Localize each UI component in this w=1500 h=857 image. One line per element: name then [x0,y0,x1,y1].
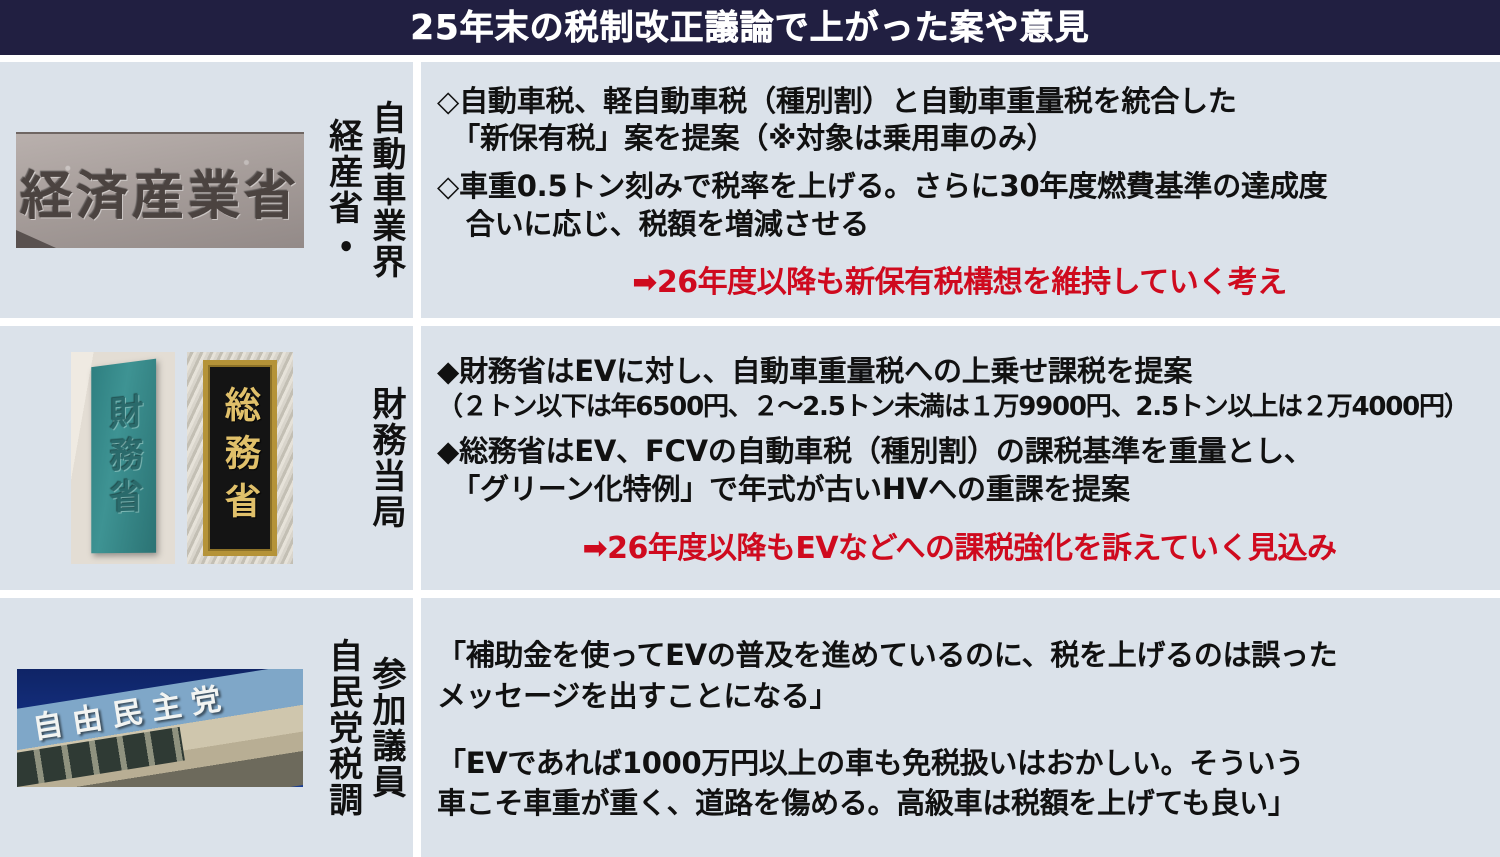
mic-frame: 総務省 [203,360,277,556]
row-label-cell-3: 自民党税調 参加議員 自由民主党 [0,598,413,857]
row-photo-area-3: 自由民主党 [0,598,320,857]
row-label-group-2: 財務当局 [364,326,413,590]
mof-plate: 財務省 [91,359,156,554]
mof-bronze-plaque-photo: 財務省 [71,352,175,564]
bullet-text-1-2: ◇車重0.5トン刻みで税率を上げる。さらに30年度燃費基準の達成度 合いに応じ、… [437,168,1482,243]
stone-corner-shadow [16,230,56,248]
quote-text-3-2: 「EVであれば1000万円以上の車も免税扱いはおかしい。そういう 車こそ車重が重… [437,743,1482,824]
bullet-item: ◇車重0.5トン刻みで税率を上げる。さらに30年度燃費基準の達成度 合いに応じ、… [437,168,1482,243]
quote-item: 「EVであれば1000万円以上の車も免税扱いはおかしい。そういう 車こそ車重が重… [437,743,1482,824]
row-photo-area-1: 経済産業省 [0,62,320,318]
row-content-cell-2: ◆財務省はEVに対し、自動車重量税への上乗せ課税を提案 （２トン以下は年6500… [421,326,1500,590]
mic-plaque-caption: 総務省 [222,386,258,530]
infographic-root: 25年末の税制改正議論で上がった案や意見 経産省・ 自動車業界 経済産業省 ◇自… [0,0,1500,857]
header-bar: 25年末の税制改正議論で上がった案や意見 [0,0,1500,55]
bullet-item: ◆財務省はEVに対し、自動車重量税への上乗せ課税を提案 （２トン以下は年6500… [437,353,1482,423]
ldp-headquarters-photo: 自由民主党 [17,669,303,787]
row-photo-area-2: 財務省 総務省 [0,326,364,590]
conclusion-text-1: ➡26年度以降も新保有税構想を維持していく考え [437,265,1482,301]
meti-sign-caption: 経済産業省 [20,154,300,229]
row-label-right-2: 財務当局 [368,386,403,530]
row-label-cell-1: 経産省・ 自動車業界 経済産業省 [0,62,413,318]
mof-plaque-caption: 財務省 [106,393,139,521]
page-title: 25年末の税制改正議論で上がった案や意見 [410,11,1089,45]
row-label-left-3: 参加議員 [368,656,403,800]
meti-stone-sign-photo: 経済産業省 [16,132,304,248]
row-content-cell-3: 「補助金を使ってEVの普及を進めているのに、税を上げるのは誤った メッセージを出… [421,598,1500,857]
bullet-item: ◆総務省はEV、FCVの自動車税（種別割）の課税基準を重量とし、 「グリーン化特… [437,433,1482,508]
mic-gold-plaque-photo: 総務省 [187,352,293,564]
row-label-cell-2: 財務当局 財務省 総務省 [0,326,413,590]
table-row-ldp-tax-council: 自民党税調 参加議員 自由民主党 「補助金を使ってEVの普及を進めているのに、税… [0,598,1500,857]
table-row-meti-industry: 経産省・ 自動車業界 経済産業省 ◇自動車税、軽自動車税（種別割）と自動車重量税… [0,62,1500,318]
bullet-item: ◇自動車税、軽自動車税（種別割）と自動車重量税を統合した 「新保有税」案を提案（… [437,83,1482,158]
quote-text-3-1: 「補助金を使ってEVの普及を進めているのに、税を上げるのは誤った メッセージを出… [437,635,1482,716]
table-row-fiscal-authorities: 財務当局 財務省 総務省 ◆財務省はEVに対し、自動車重量税への上乗せ課税を提案 [0,326,1500,590]
quote-item: 「補助金を使ってEVの普及を進めているのに、税を上げるのは誤った メッセージを出… [437,635,1482,716]
row-label-group-1: 経産省・ 自動車業界 [320,62,413,318]
conclusion-text-2: ➡26年度以降もEVなどへの課税強化を訴えていく見込み [437,531,1482,567]
bullet-text-2-1: ◆財務省はEVに対し、自動車重量税への上乗せ課税を提案 [437,353,1482,391]
bullet-note-2-1: （２トン以下は年6500円、２〜2.5トン未満は１万9900円、2.5トン以上は… [437,391,1482,424]
row-label-right-1: 経産省・ [324,118,359,262]
row-label-right-3: 自民党税調 [324,638,359,818]
bullet-text-2-2: ◆総務省はEV、FCVの自動車税（種別割）の課税基準を重量とし、 「グリーン化特… [437,433,1482,508]
row-content-cell-1: ◇自動車税、軽自動車税（種別割）と自動車重量税を統合した 「新保有税」案を提案（… [421,62,1500,318]
row-label-group-3: 自民党税調 参加議員 [320,598,413,857]
row-label-left-1: 自動車業界 [368,100,403,280]
bullet-text-1-1: ◇自動車税、軽自動車税（種別割）と自動車重量税を統合した 「新保有税」案を提案（… [437,83,1482,158]
